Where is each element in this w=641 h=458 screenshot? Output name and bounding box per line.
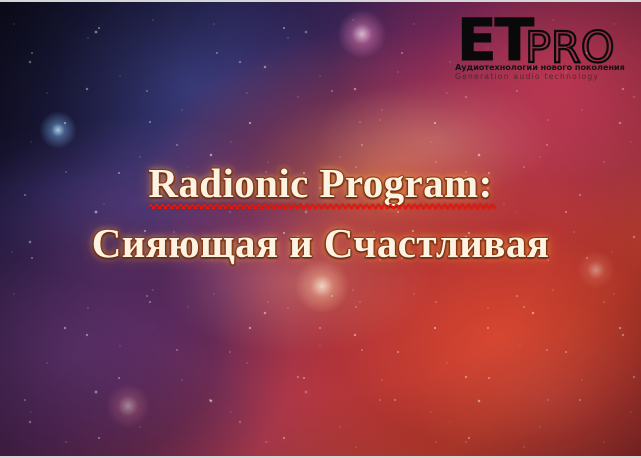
title-line-1-wrapper: Radionic Program: — [0, 160, 641, 206]
title-line-2-wrapper: Сияющая и Счастливая — [0, 206, 641, 266]
title-line-1: Radionic Program: — [148, 160, 492, 206]
logo-tagline-en: Generation audio technology — [455, 72, 631, 81]
logo-mark-et: ET — [457, 11, 532, 69]
slide-title-block: Radionic Program: Сияющая и Счастливая — [0, 160, 641, 266]
logo-tagline: Аудиотехнологии нового поколения Generat… — [455, 63, 631, 81]
logo-tagline-ru: Аудиотехнологии нового поколения — [455, 63, 631, 72]
et-pro-logo: ET PRO Аудиотехнологии нового поколения … — [453, 11, 633, 85]
spellcheck-underline — [149, 204, 494, 209]
title-line-1-text: Radionic Program: — [148, 160, 492, 206]
title-line-2: Сияющая и Счастливая — [92, 220, 550, 266]
presentation-slide: ET PRO Аудиотехнологии нового поколения … — [0, 0, 641, 458]
